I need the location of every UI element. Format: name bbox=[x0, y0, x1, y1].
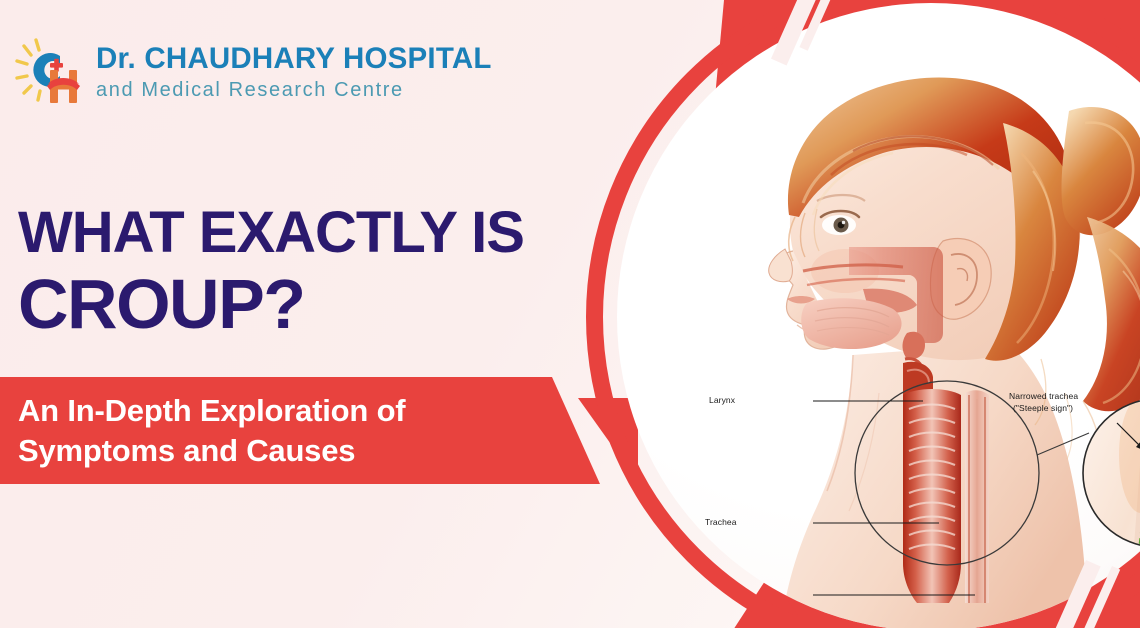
label-larynx: Larynx bbox=[709, 395, 735, 405]
page-title: WHAT EXACTLY IS CROUP? bbox=[18, 205, 524, 338]
brand-subtitle: and Medical Research Centre bbox=[96, 80, 492, 100]
illustration-frame: Larynx Trachea Esophagus Narrowed trache… bbox=[586, 0, 1140, 628]
label-trachea: Trachea bbox=[705, 517, 737, 527]
label-narrowed-trachea: Narrowed trachea bbox=[1009, 391, 1078, 402]
hospital-ch-monogram-icon bbox=[14, 36, 86, 108]
headline-line-1: WHAT EXACTLY IS bbox=[18, 205, 524, 262]
headline-line-2: CROUP? bbox=[18, 270, 524, 339]
subtitle-banner: An In-Depth Exploration of Symptoms and … bbox=[0, 377, 600, 484]
croup-info-banner: Larynx Trachea Esophagus Narrowed trache… bbox=[0, 0, 1140, 628]
label-steeple-sign: ("Steeple sign") bbox=[1013, 403, 1073, 414]
brand-title: Dr. CHAUDHARY HOSPITAL bbox=[96, 44, 492, 74]
illustration-disc: Larynx Trachea Esophagus Narrowed trache… bbox=[617, 3, 1140, 628]
brand-logo[interactable]: Dr. CHAUDHARY HOSPITAL and Medical Resea… bbox=[14, 36, 492, 108]
subtitle-line-1: An In-Depth Exploration of bbox=[18, 391, 600, 431]
label-esophagus-main: Esophagus bbox=[693, 589, 736, 599]
subtitle-line-2: Symptoms and Causes bbox=[18, 431, 600, 471]
brand-text: Dr. CHAUDHARY HOSPITAL and Medical Resea… bbox=[96, 44, 492, 101]
airway-anatomy-illustration bbox=[617, 3, 1140, 628]
